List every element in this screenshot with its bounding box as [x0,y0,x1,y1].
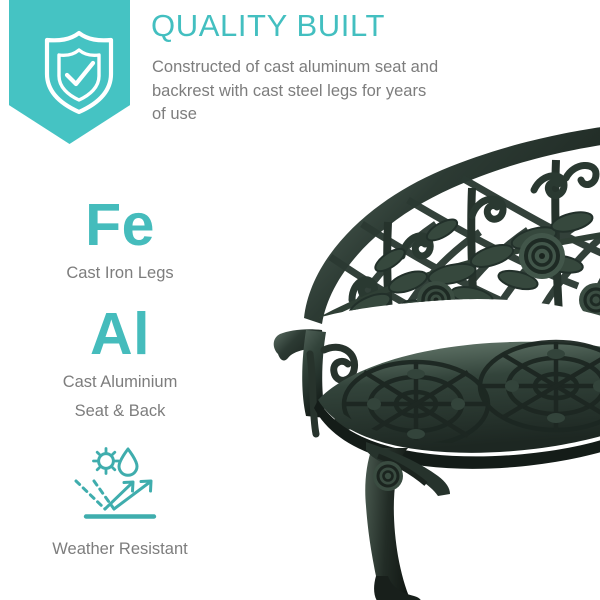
feature-caption-fe: Cast Iron Legs [0,263,240,284]
feature-cast-aluminium-seat-back: Al Cast Aluminium Seat & Back [0,305,240,422]
product-image-garden-bench [266,104,600,600]
quality-banner [9,0,130,144]
feature-caption-al-line2: Seat & Back [0,401,240,422]
weather-resistant-icon [68,446,172,530]
shield-check-icon [33,26,125,118]
element-symbol-fe: Fe [0,196,240,255]
bench-illustration [266,104,600,600]
feature-weather-resistant: Weather Resistant [0,446,240,560]
feature-caption-weather: Weather Resistant [0,539,240,560]
infographic-page: QUALITY BUILT Constructed of cast alumin… [0,0,600,600]
page-title: QUALITY BUILT [151,8,385,44]
feature-cast-iron-legs: Fe Cast Iron Legs [0,196,240,284]
feature-caption-al-line1: Cast Aluminium [0,372,240,393]
element-symbol-al: Al [0,305,240,364]
